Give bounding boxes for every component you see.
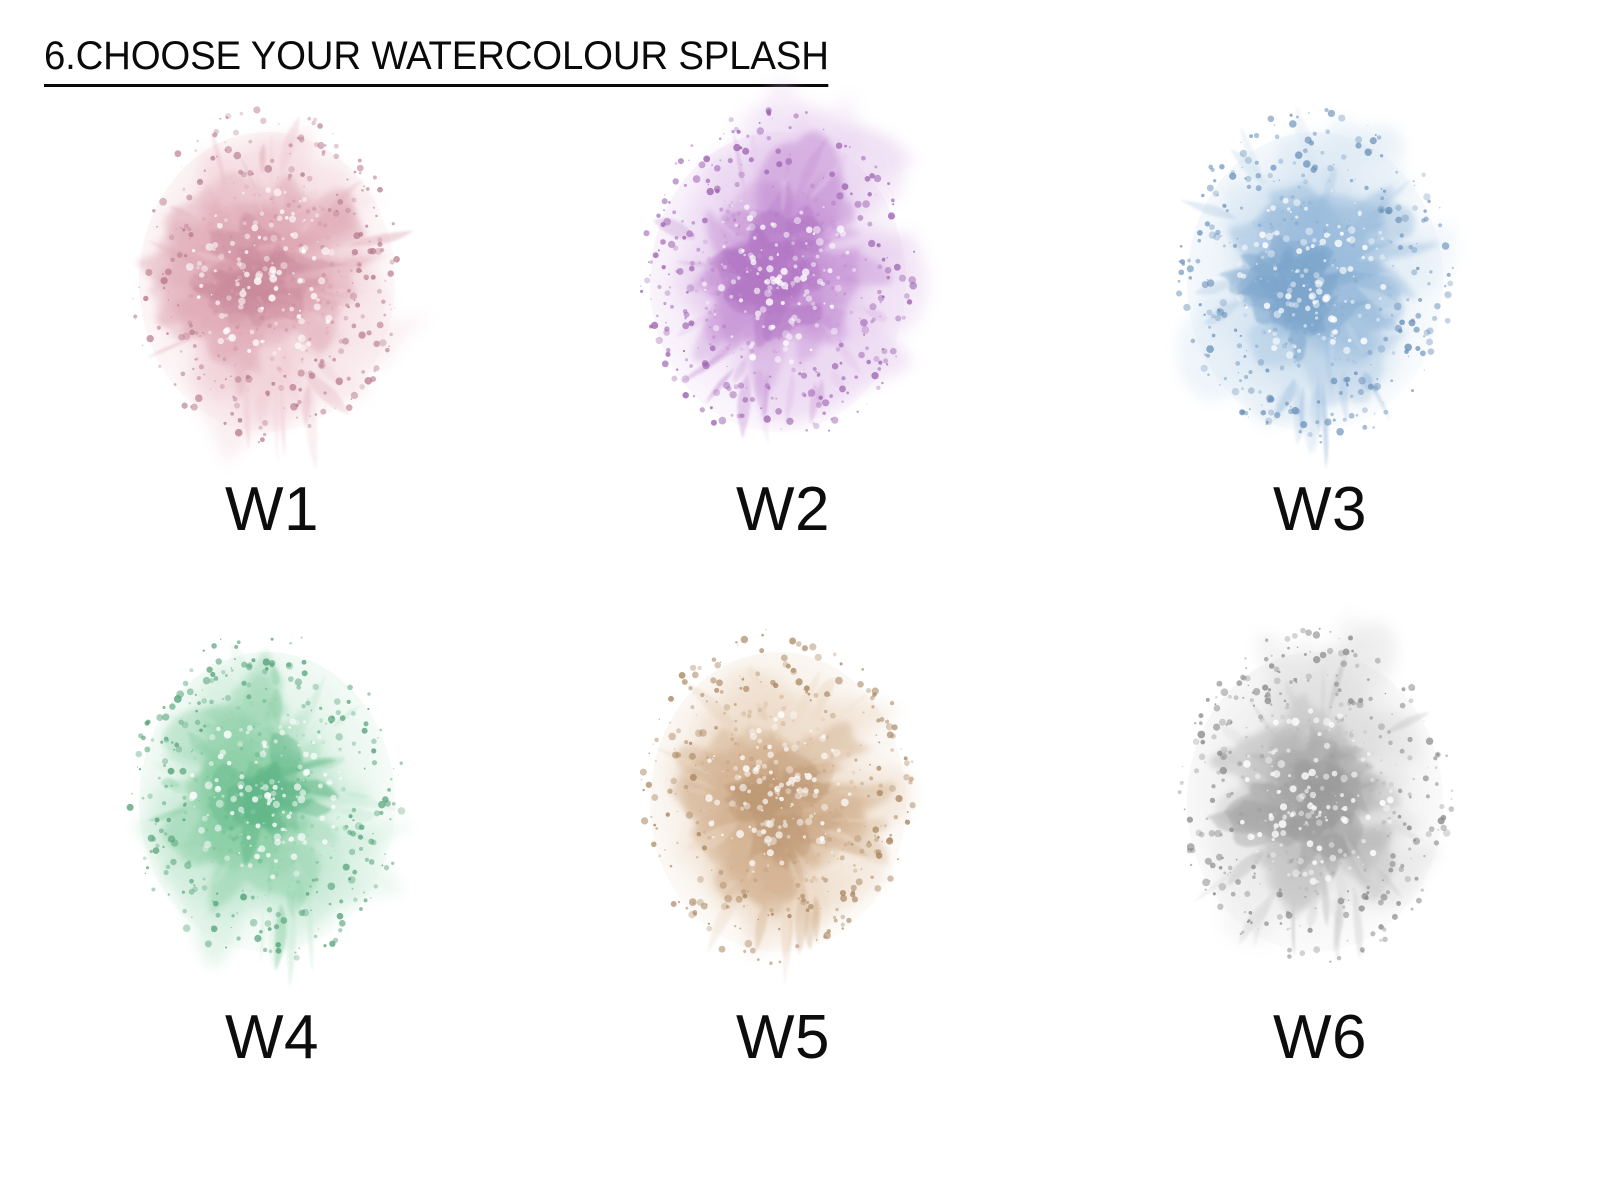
swatch-label-w5: W5 [736,1006,830,1070]
watercolour-splash-graphic [618,624,948,984]
swatch-row-2: W4 W5 W6 [0,616,1600,1136]
watercolour-splash-graphic [107,104,437,464]
swatch-option-w1[interactable]: W1 [12,96,532,616]
swatch-option-w2[interactable]: W2 [523,96,1043,616]
page-title: 6.CHOOSE YOUR WATERCOLOUR SPLASH [44,33,829,87]
swatch-label-w1: W1 [225,478,319,542]
swatch-option-w5[interactable]: W5 [523,616,1043,1136]
swatch-row-1: W1 W2 W3 [0,96,1600,616]
watercolour-splash-graphic [1155,624,1485,984]
watercolour-splash-icon[interactable] [107,624,437,984]
watercolour-splash-chooser-page: 6.CHOOSE YOUR WATERCOLOUR SPLASH W1 W2 W… [0,0,1600,1200]
watercolour-splash-graphic [107,624,437,984]
swatch-option-w4[interactable]: W4 [12,616,532,1136]
page-title-container: 6.CHOOSE YOUR WATERCOLOUR SPLASH [44,33,861,87]
watercolour-splash-icon[interactable] [1155,624,1485,984]
watercolour-splash-icon[interactable] [618,104,948,464]
watercolour-splash-icon[interactable] [1155,104,1485,464]
watercolour-splash-graphic [618,104,948,464]
swatch-label-w3: W3 [1273,478,1367,542]
swatch-grid: W1 W2 W3 W4 W5 W6 [0,96,1600,1136]
swatch-option-w6[interactable]: W6 [1060,616,1580,1136]
swatch-option-w3[interactable]: W3 [1060,96,1580,616]
swatch-label-w6: W6 [1273,1006,1367,1070]
watercolour-splash-icon[interactable] [107,104,437,464]
swatch-label-w4: W4 [225,1006,319,1070]
swatch-label-w2: W2 [736,478,830,542]
watercolour-splash-graphic [1155,104,1485,464]
watercolour-splash-icon[interactable] [618,624,948,984]
